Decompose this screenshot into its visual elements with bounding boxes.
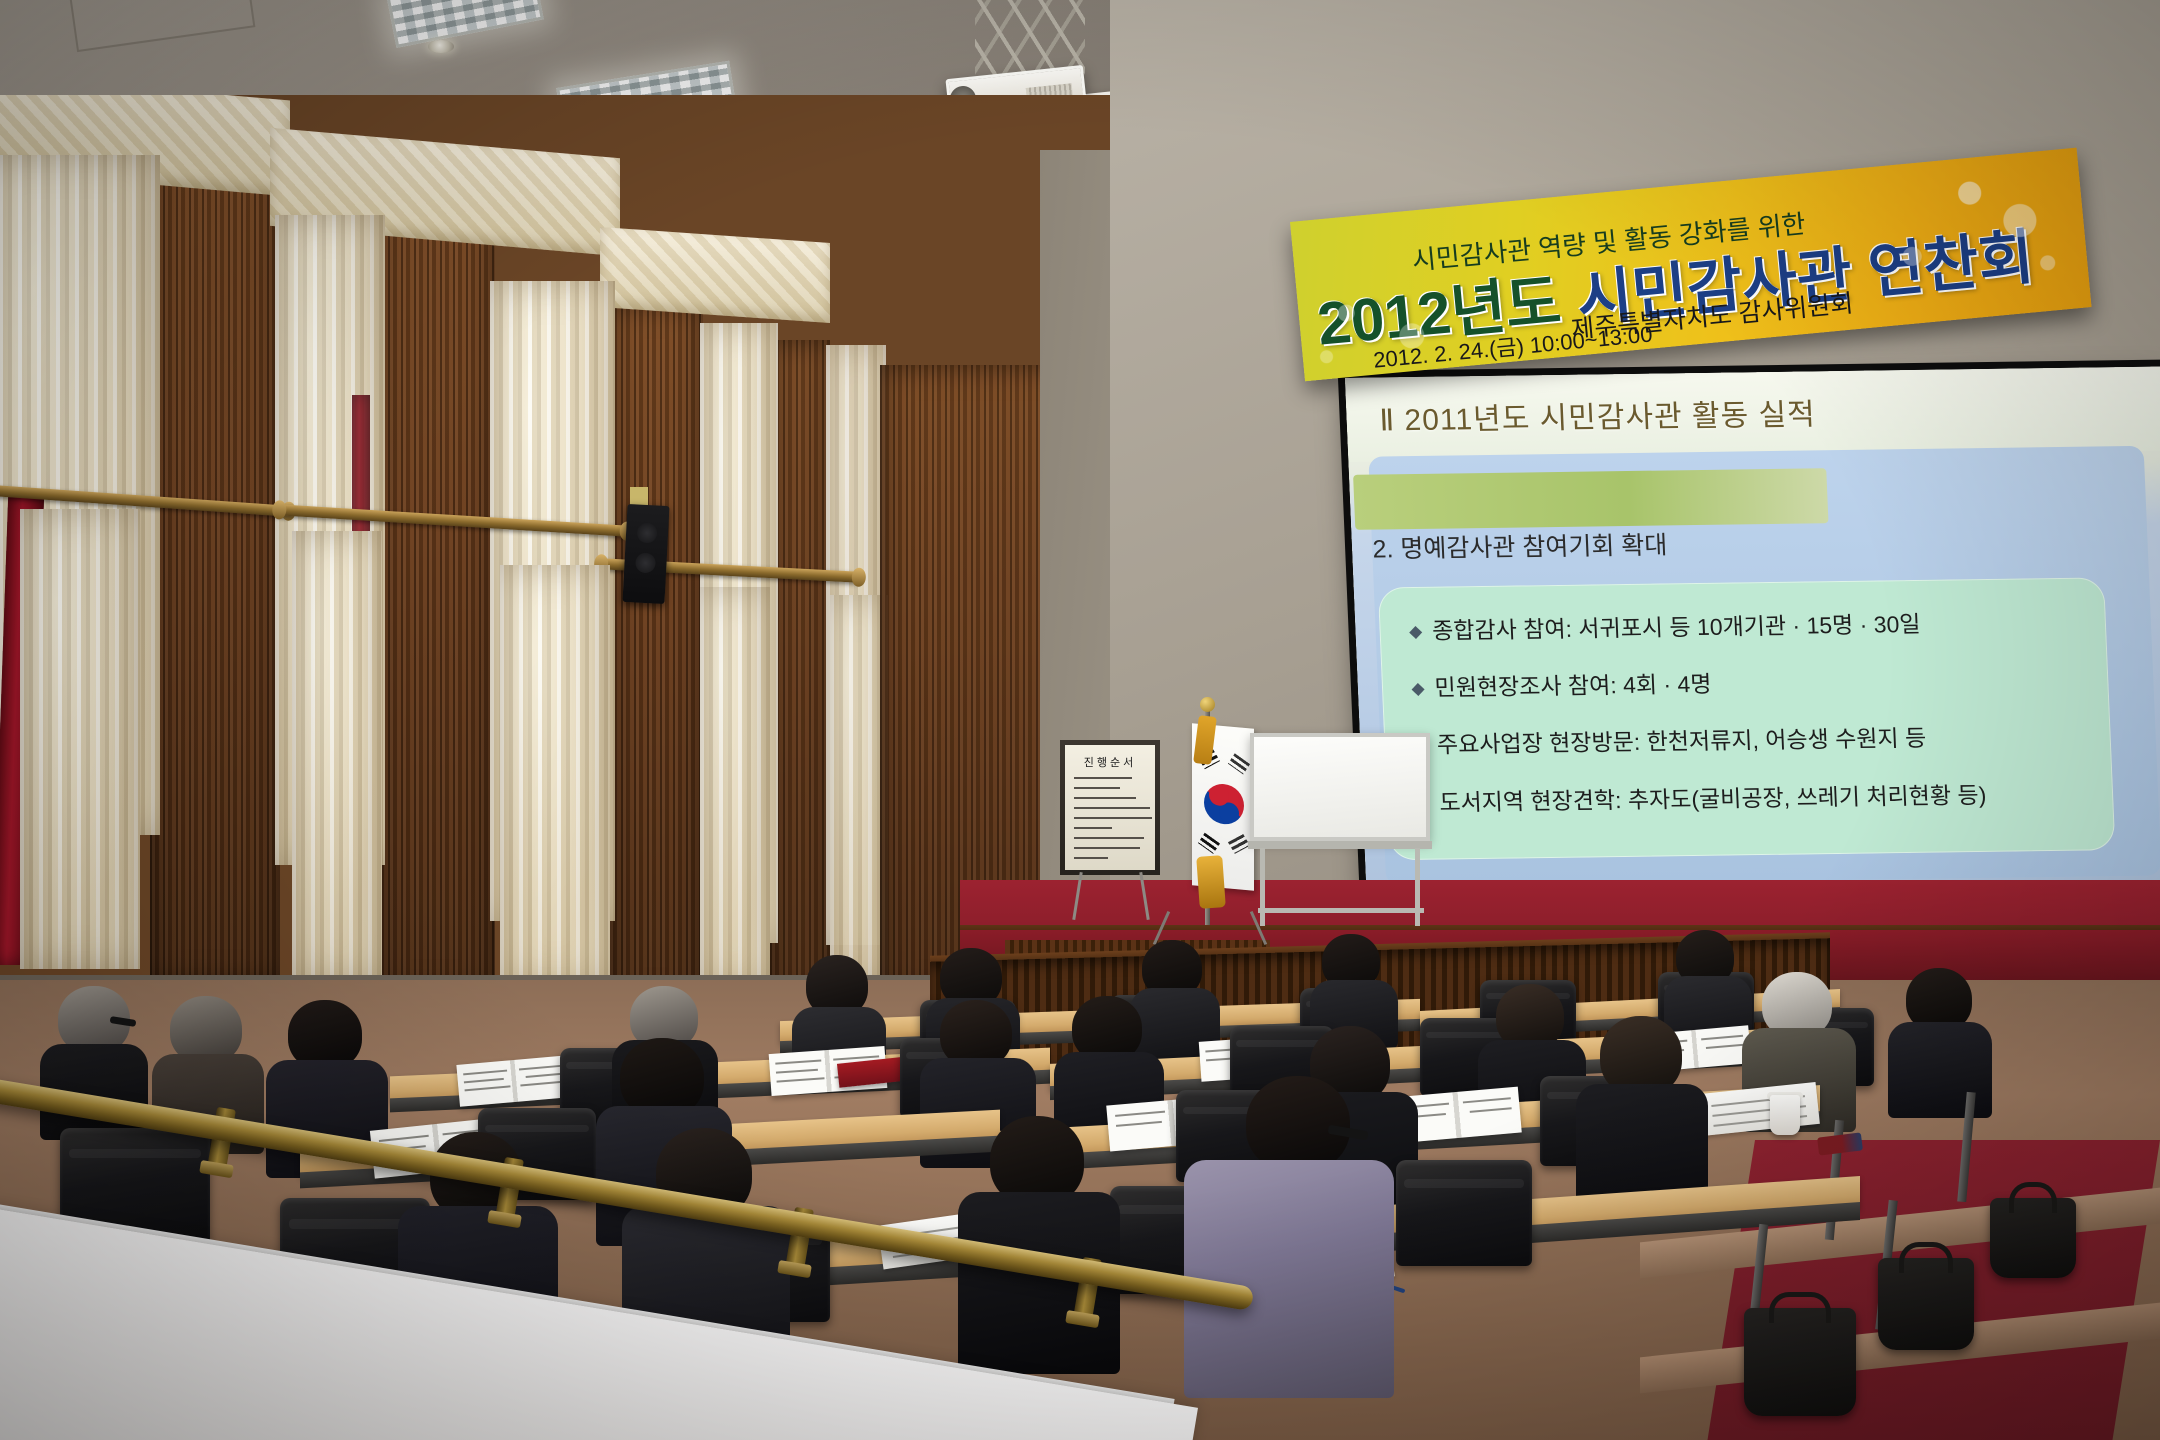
- program-easel: 진행순서: [1060, 740, 1168, 920]
- person-torso-purple: [1184, 1160, 1394, 1398]
- window-curtain-lower: [292, 531, 382, 975]
- slide-bullet: ◆민원현장조사 참여: 4회 · 4명: [1411, 665, 1712, 703]
- sign-title: 진행순서: [1065, 754, 1155, 770]
- flag-finial: [1200, 697, 1215, 712]
- conference-hall-photo: Ⅱ 2011년도 시민감사관 활동 실적 2. 명예감사관 참여기회 확대 ◆종…: [0, 0, 2160, 1440]
- diamond-bullet-icon: ◆: [1411, 679, 1425, 698]
- handbag: [1990, 1198, 2076, 1278]
- slide-bullet-text: 도서지역 현장견학: 추자도(굴비공장, 쓰레기 처리현황 등): [1439, 781, 1987, 815]
- projection-screen: Ⅱ 2011년도 시민감사관 활동 실적 2. 명예감사관 참여기회 확대 ◆종…: [1345, 367, 2160, 903]
- slide-bullet-text: 주요사업장 현장방문: 한천저류지, 어승생 수원지 등: [1436, 725, 1926, 758]
- wood-panel-column: [608, 303, 703, 975]
- ceiling-downlight: [428, 40, 454, 53]
- slide-bullet: ◆종합감사 참여: 서귀포시 등 10개기관 · 15명 · 30일: [1408, 604, 1921, 645]
- sign-frame: 진행순서: [1060, 740, 1160, 875]
- slide-bullet-text: 민원현장조사 참여: 4회 · 4명: [1434, 671, 1712, 701]
- slide-section-heading: 2. 명예감사관 참여기회 확대: [1372, 526, 1668, 566]
- slide-bullet: ◆주요사업장 현장방문: 한천저류지, 어승생 수원지 등: [1413, 719, 1927, 760]
- whiteboard-stand-legs: [1250, 848, 1430, 926]
- left-wall: [0, 95, 1160, 975]
- easel-legs: [1068, 872, 1154, 920]
- wood-panel-column: [375, 165, 495, 975]
- slide-title: Ⅱ 2011년도 시민감사관 활동 실적: [1378, 390, 1816, 440]
- whiteboard-stand-bar: [1258, 908, 1424, 913]
- paper-cup: [1770, 1095, 1800, 1135]
- wall-speaker: [622, 504, 669, 604]
- slide-bullet: ◆도서지역 현장견학: 추자도(굴비공장, 쓰레기 처리현황 등): [1415, 775, 1986, 817]
- audience-chair[interactable]: [1396, 1160, 1532, 1266]
- handbag: [1878, 1258, 1974, 1350]
- wood-panel-column: [770, 340, 830, 975]
- ceiling-access-panel: [65, 0, 256, 52]
- slide-bullet-panel: ◆종합감사 참여: 서귀포시 등 10개기관 · 15명 · 30일 ◆민원현장…: [1378, 577, 2115, 860]
- ceiling-troffer-light: [386, 0, 544, 48]
- person-torso: [1888, 1022, 1992, 1118]
- whiteboard[interactable]: [1250, 733, 1430, 841]
- diamond-bullet-icon: ◆: [1409, 621, 1423, 640]
- slide-section-bar: [1353, 468, 1828, 530]
- sign-paper: 진행순서: [1065, 745, 1155, 870]
- wood-panel-column: [150, 105, 280, 975]
- window-curtain-lower: [700, 587, 770, 975]
- curtain-valance: [600, 227, 830, 323]
- taeguk-symbol-icon: [1204, 782, 1244, 825]
- handbag: [1744, 1308, 1856, 1416]
- flag-tassel: [1196, 855, 1226, 909]
- window-curtain-lower: [500, 565, 610, 975]
- person-head: [1246, 1076, 1350, 1172]
- presentation-slide: Ⅱ 2011년도 시민감사관 활동 실적 2. 명예감사관 참여기회 확대 ◆종…: [1345, 367, 2160, 903]
- slide-bullet-text: 종합감사 참여: 서귀포시 등 10개기관 · 15명 · 30일: [1432, 610, 1921, 643]
- window-curtain-lower: [20, 509, 140, 969]
